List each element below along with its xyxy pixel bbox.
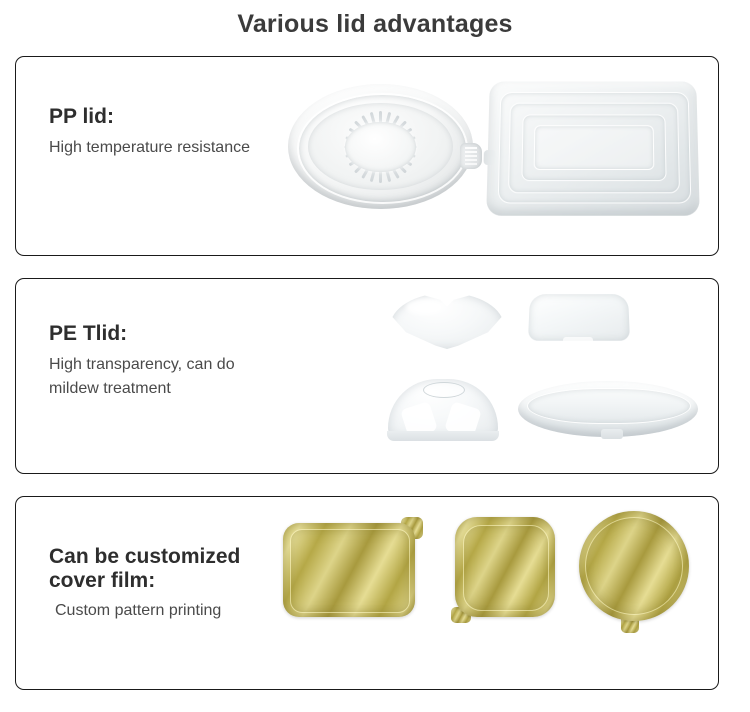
card-pp-lid-text-block: PP lid: High temperature resistance	[49, 105, 250, 160]
dome-lid-top	[388, 379, 498, 437]
oval-pe-lid-image	[518, 381, 698, 437]
oval-lid-inner-ring	[527, 388, 691, 425]
rect-lid-notch	[484, 150, 496, 165]
round-gold-foil-lid-image	[579, 511, 697, 627]
heart-lid-dome	[390, 293, 504, 349]
card-cover-film-product-images	[283, 497, 718, 689]
round-lid-tab	[460, 143, 482, 169]
card-pp-lid-heading: PP lid:	[49, 105, 250, 129]
card-pe-lid-subtitle: High transparency, can do mildew treatme…	[49, 353, 235, 403]
rectangular-gold-foil-lid-image	[283, 517, 423, 617]
card-pe-lid-product-images	[358, 279, 718, 473]
heart-pe-lid-image	[388, 293, 508, 371]
card-cover-film-text-block: Can be customized cover film: Custom pat…	[49, 545, 240, 624]
round-pp-lid-image	[288, 84, 473, 209]
gold-square-lid-inner-ring	[463, 525, 549, 611]
gold-square-lid-body	[455, 517, 555, 617]
oval-lid-notch	[601, 429, 623, 439]
rect-lid-body	[486, 81, 700, 215]
square-gold-foil-lid-image	[451, 515, 561, 623]
page-title: Various lid advantages	[0, 10, 750, 39]
round-lid-center-panel	[345, 122, 415, 172]
card-pe-lid-heading: PE Tlid:	[49, 322, 235, 346]
square-pe-lid-image	[523, 293, 635, 365]
card-pp-lid-product-images	[288, 57, 718, 255]
card-cover-film-heading: Can be customized cover film:	[49, 545, 240, 592]
heart-lid-gloss	[406, 299, 442, 315]
card-cover-film-subtitle: Custom pattern printing	[49, 599, 240, 624]
gold-rect-lid-body	[283, 523, 415, 617]
rect-lid-center-panel	[534, 125, 654, 170]
gold-round-lid-body	[579, 511, 689, 621]
square-lid-notch	[563, 337, 593, 345]
card-cover-film: Can be customized cover film: Custom pat…	[15, 496, 719, 690]
card-pp-lid: PP lid: High temperature resistance	[15, 56, 719, 256]
dome-pe-lid-image	[388, 379, 498, 441]
rectangular-pp-lid-image	[488, 80, 698, 215]
card-pe-lid: PE Tlid: High transparency, can do milde…	[15, 278, 719, 474]
gold-rect-lid-inner-ring	[290, 529, 410, 613]
card-pe-lid-text-block: PE Tlid: High transparency, can do milde…	[49, 322, 235, 402]
dome-lid-straw-hole	[423, 382, 465, 398]
dome-lid-rim	[387, 431, 499, 441]
square-lid-dome	[528, 294, 630, 341]
gold-round-lid-inner-ring	[585, 517, 683, 615]
card-pp-lid-subtitle: High temperature resistance	[49, 136, 250, 161]
